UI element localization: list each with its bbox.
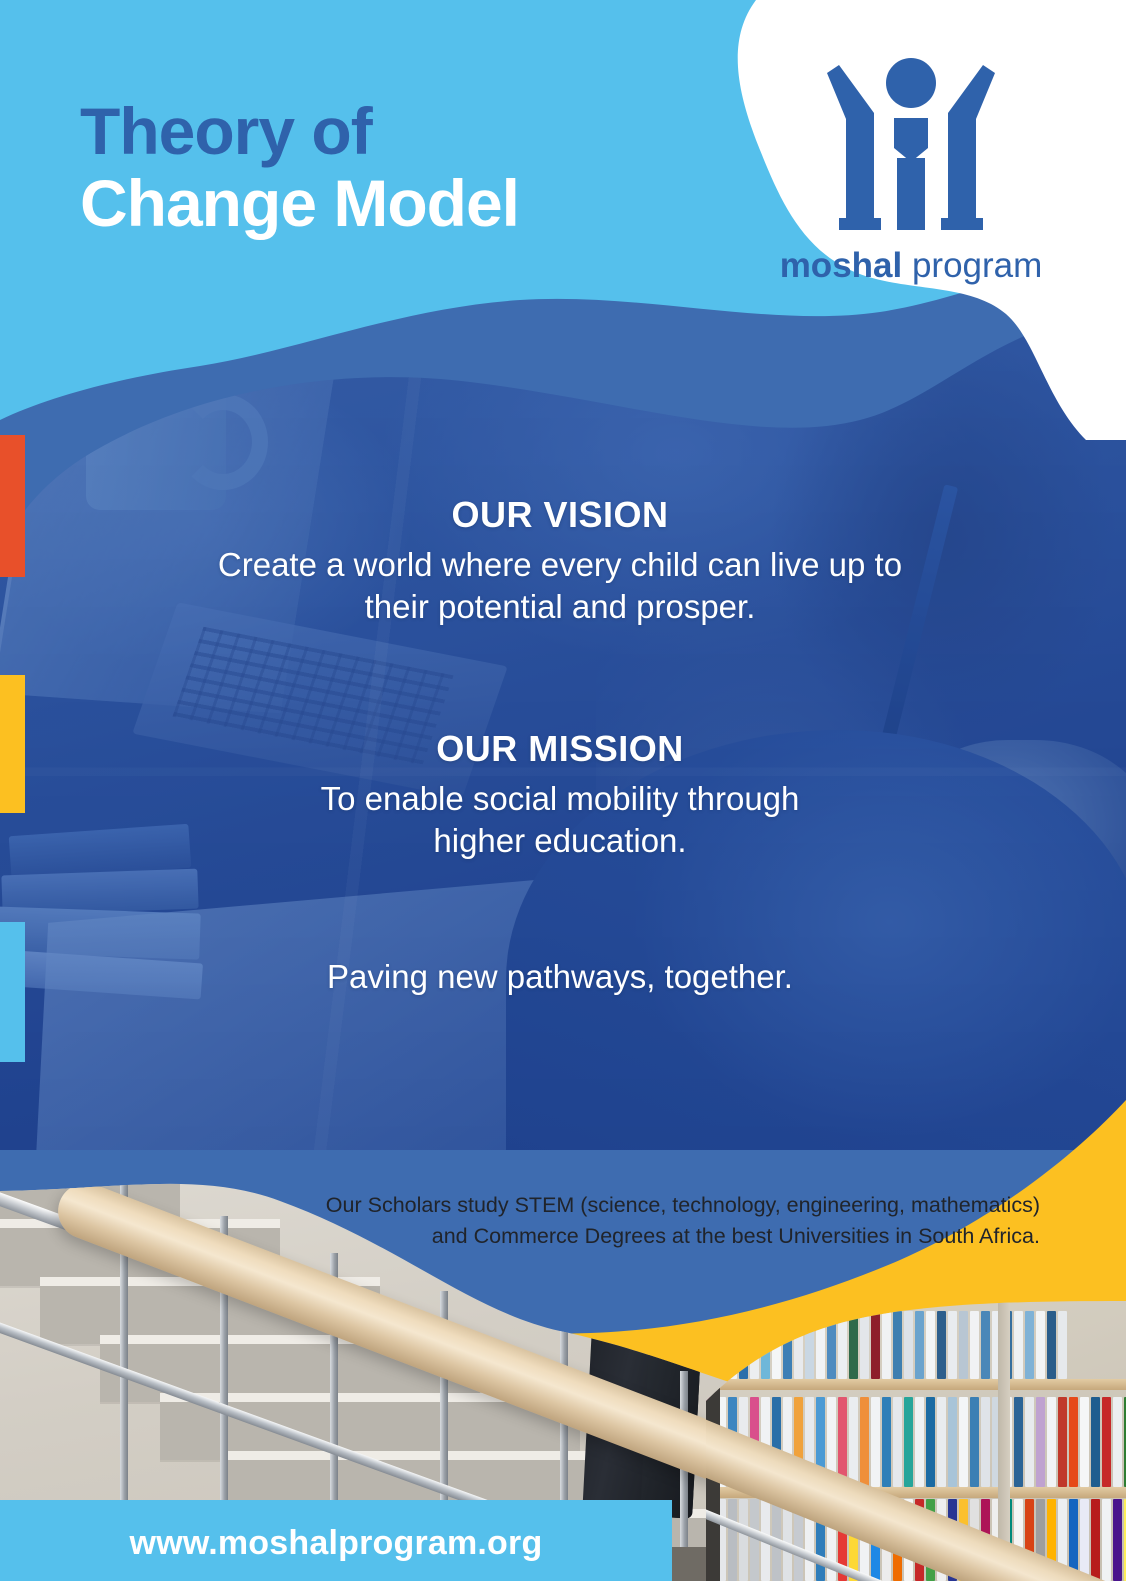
blue-accent-tab xyxy=(0,922,25,1062)
logo-wordmark-light: program xyxy=(912,246,1042,285)
scholars-statement-line-1: Our Scholars study STEM (science, techno… xyxy=(90,1190,1040,1221)
vision-body-line-2: their potential and prosper. xyxy=(140,586,980,628)
mission-block: OUR MISSION To enable social mobility th… xyxy=(140,728,980,862)
scholars-statement-line-2: and Commerce Degrees at the best Univers… xyxy=(90,1221,1040,1252)
tagline: Paving new pathways, together. xyxy=(140,958,980,996)
shelf-plank xyxy=(706,1379,1126,1390)
logo-wordmark-bold: moshal xyxy=(780,246,903,285)
poster-canvas: Theory of Change Model moshal program OU… xyxy=(0,0,1126,1581)
yellow-accent-tab xyxy=(0,675,25,813)
vision-heading: OUR VISION xyxy=(140,494,980,536)
orange-accent-tab xyxy=(0,435,25,577)
mission-heading: OUR MISSION xyxy=(140,728,980,770)
moshal-program-logo[interactable]: moshal program xyxy=(766,58,1056,286)
page-title-line-1: Theory of xyxy=(80,98,700,164)
website-url[interactable]: www.moshalprogram.org xyxy=(0,1524,672,1563)
moshal-figure-logo-icon xyxy=(818,58,1004,236)
scholars-statement: Our Scholars study STEM (science, techno… xyxy=(90,1190,1040,1253)
page-title: Theory of Change Model xyxy=(80,98,700,236)
mission-body-line-1: To enable social mobility through xyxy=(140,778,980,820)
vision-body-line-1: Create a world where every child can liv… xyxy=(140,544,980,586)
page-title-line-2: Change Model xyxy=(80,170,700,236)
vision-block: OUR VISION Create a world where every ch… xyxy=(140,494,980,628)
logo-wordmark: moshal program xyxy=(766,246,1056,286)
mission-body-line-2: higher education. xyxy=(140,820,980,862)
